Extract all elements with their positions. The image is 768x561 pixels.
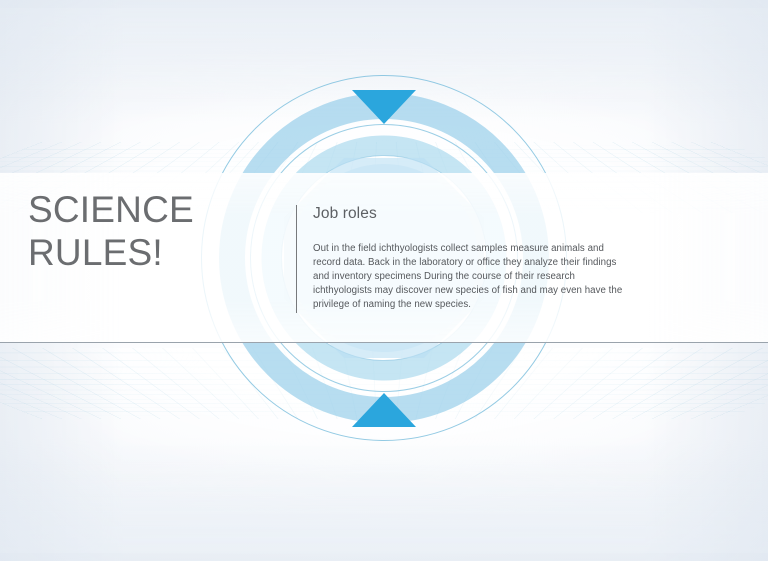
content-band: SCIENCE RULES! Job roles Out in the fiel… (0, 173, 768, 343)
triangle-down-icon (352, 90, 416, 124)
panel-heading: Job roles (313, 205, 626, 223)
triangle-up-icon (352, 393, 416, 427)
panel-body-text: Out in the field ichthyologists collect … (313, 242, 626, 311)
slide-canvas: SCIENCE RULES! Job roles Out in the fiel… (0, 0, 768, 561)
page-title: SCIENCE RULES! (28, 188, 194, 275)
job-roles-panel: Job roles Out in the field ichthyologist… (296, 205, 626, 313)
